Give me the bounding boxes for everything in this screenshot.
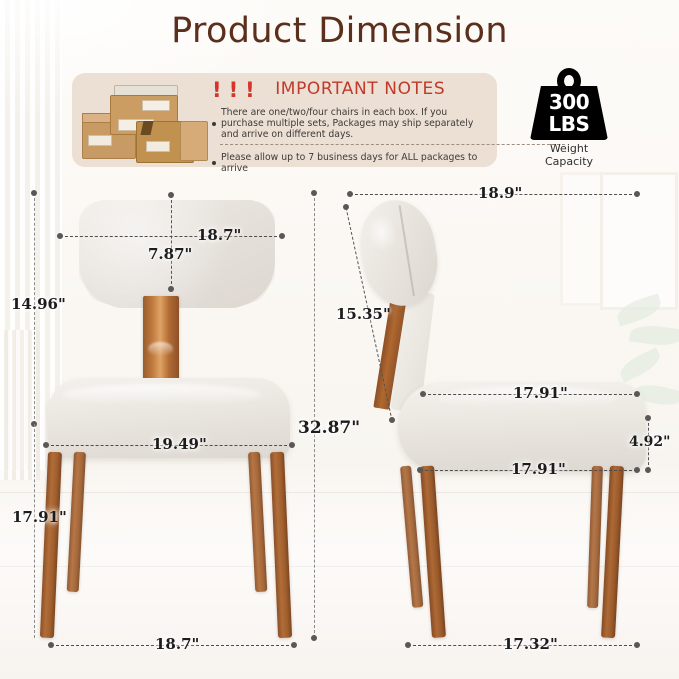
pillow-seam [399, 205, 415, 296]
dimension-backrest-height: 7.87" [148, 245, 192, 263]
notes-heading-row: !!! IMPORTANT NOTES [212, 78, 489, 102]
dimline-endpoint [420, 391, 426, 397]
dimline-endpoint [405, 642, 411, 648]
seat-highlight [62, 384, 262, 406]
dimension-back-to-seat: 14.96" [11, 295, 66, 313]
pillow-highlight [364, 210, 400, 254]
note-item: Please allow up to 7 business days for A… [212, 152, 489, 174]
dimline-endpoint [634, 391, 640, 397]
dimline-endpoint [291, 642, 297, 648]
exclamation-icon: !!! [212, 78, 262, 102]
dimline-backrest-height [171, 195, 172, 289]
weight-caption: Weight Capacity [525, 142, 613, 168]
dimline-endpoint [311, 635, 317, 641]
dimension-seat-depth-bottom: 17.91" [511, 460, 566, 478]
dimension-backrest-diagonal: 15.35" [336, 305, 391, 323]
dimline-leg-height [34, 424, 35, 638]
dimline-endpoint [168, 192, 174, 198]
dimline-endpoint [31, 190, 37, 196]
dimension-base-depth: 17.32" [503, 635, 558, 653]
dimension-seat-thickness: 4.92" [629, 434, 670, 450]
weight-icon: 300 LBS [530, 68, 608, 140]
bullet-icon [212, 122, 216, 126]
dimline-endpoint [417, 467, 423, 473]
page-title: Product Dimension [0, 11, 679, 51]
dimension-seat-depth-top: 17.91" [513, 384, 568, 402]
note-item-text: There are one/two/four chairs in each bo… [221, 107, 489, 141]
note-item: There are one/two/four chairs in each bo… [212, 107, 489, 141]
dimline-endpoint [347, 191, 353, 197]
background-floor [0, 470, 679, 679]
dimension-total-height: 32.87" [298, 418, 360, 438]
dimension-leg-height: 17.91" [12, 508, 67, 526]
notes-content: !!! IMPORTANT NOTES There are one/two/fo… [212, 78, 489, 163]
chair-wood-post-front [143, 296, 179, 386]
dimline-endpoint [168, 286, 174, 292]
product-dimension-infographic: Product Dimension !!! IMPORTANT NOTES [0, 0, 679, 679]
dimline-endpoint [57, 233, 63, 239]
dimline-endpoint [311, 190, 317, 196]
dimension-base-width: 18.7" [155, 635, 199, 653]
weight-unit: LBS [530, 112, 608, 136]
dimline-endpoint [634, 642, 640, 648]
dimline-endpoint [279, 233, 285, 239]
weight-amount: 300 [530, 90, 608, 114]
dimline-endpoint [289, 442, 295, 448]
dimension-seat-width: 19.49" [152, 435, 207, 453]
notes-title: IMPORTANT NOTES [275, 79, 445, 99]
dimline-endpoint [389, 417, 395, 423]
wood-gloss-highlight [148, 342, 173, 356]
dimline-endpoint [645, 467, 651, 473]
dimension-backrest-width: 18.7" [197, 226, 241, 244]
dimline-endpoint [43, 442, 49, 448]
dimline-total-height [314, 193, 315, 638]
dimline-endpoint [48, 642, 54, 648]
dimline-endpoint [343, 204, 349, 210]
dimline-endpoint [634, 467, 640, 473]
notes-divider [220, 144, 565, 145]
weight-capacity-badge: 300 LBS Weight Capacity [525, 68, 613, 168]
dimline-endpoint [645, 415, 651, 421]
dimline-endpoint [634, 191, 640, 197]
cardboard-boxes-icon [80, 81, 210, 161]
bullet-icon [212, 161, 216, 165]
important-notes-panel: !!! IMPORTANT NOTES There are one/two/fo… [72, 73, 497, 167]
note-item-text: Please allow up to 7 business days for A… [221, 152, 489, 174]
dimension-overall-depth-top: 18.9" [478, 184, 522, 202]
